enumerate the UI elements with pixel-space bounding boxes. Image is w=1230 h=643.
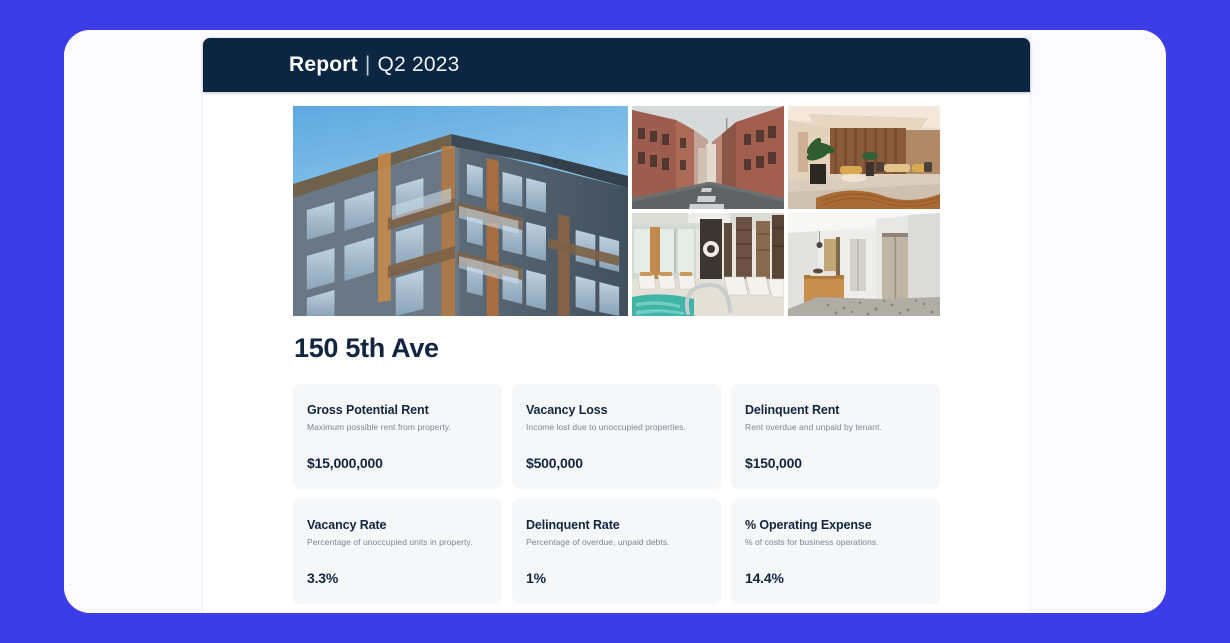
photo-gallery [293, 106, 940, 316]
metric-value: $15,000,000 [307, 455, 488, 471]
device-card: Report | Q2 2023 [64, 30, 1166, 613]
metric-title: % Operating Expense [745, 518, 926, 532]
metric-value: $500,000 [526, 455, 707, 471]
hotel-lobby-lounge-photo[interactable] [788, 106, 940, 209]
report-body: 150 5th Ave Gross Potential Rent Maximum… [203, 92, 1030, 604]
city-street-rowhouses-photo[interactable] [632, 106, 784, 209]
metric-card-vacancy-loss[interactable]: Vacancy Loss Income lost due to unoccupi… [512, 384, 721, 489]
metric-card-operating-expense[interactable]: % Operating Expense % of costs for busin… [731, 499, 940, 604]
metric-description: Percentage of overdue, unpaid debts. [526, 537, 707, 547]
metric-description: Income lost due to unoccupied properties… [526, 422, 707, 432]
report-header-bar: Report | Q2 2023 [203, 38, 1030, 92]
metrics-grid: Gross Potential Rent Maximum possible re… [293, 384, 940, 604]
metric-card-gross-potential-rent[interactable]: Gross Potential Rent Maximum possible re… [293, 384, 502, 489]
report-title-separator: | [365, 53, 371, 77]
report-period-label: Q2 2023 [378, 53, 460, 77]
metric-value: $150,000 [745, 455, 926, 471]
apartment-building-exterior-photo[interactable] [293, 106, 628, 316]
metric-description: Percentage of unoccupied units in proper… [307, 537, 488, 547]
metric-title: Delinquent Rent [745, 403, 926, 417]
app-frame: Report | Q2 2023 [0, 0, 1230, 643]
metric-description: % of costs for business operations. [745, 537, 926, 547]
metric-card-delinquent-rent[interactable]: Delinquent Rent Rent overdue and unpaid … [731, 384, 940, 489]
gallery-thumbnails [632, 106, 940, 316]
report-title: Report | Q2 2023 [289, 53, 460, 77]
property-name-heading: 150 5th Ave [294, 333, 940, 364]
metric-title: Gross Potential Rent [307, 403, 488, 417]
metric-card-delinquent-rate[interactable]: Delinquent Rate Percentage of overdue, u… [512, 499, 721, 604]
report-title-label: Report [289, 53, 358, 77]
elevator-corridor-photo[interactable] [788, 213, 940, 316]
indoor-swimming-pool-photo[interactable] [632, 213, 784, 316]
metric-value: 1% [526, 570, 707, 586]
metric-card-vacancy-rate[interactable]: Vacancy Rate Percentage of unoccupied un… [293, 499, 502, 604]
metric-title: Delinquent Rate [526, 518, 707, 532]
metric-description: Rent overdue and unpaid by tenant. [745, 422, 926, 432]
report-document: Report | Q2 2023 [203, 38, 1030, 613]
metric-value: 14.4% [745, 570, 926, 586]
metric-title: Vacancy Rate [307, 518, 488, 532]
metric-title: Vacancy Loss [526, 403, 707, 417]
metric-description: Maximum possible rent from property. [307, 422, 488, 432]
metric-value: 3.3% [307, 570, 488, 586]
